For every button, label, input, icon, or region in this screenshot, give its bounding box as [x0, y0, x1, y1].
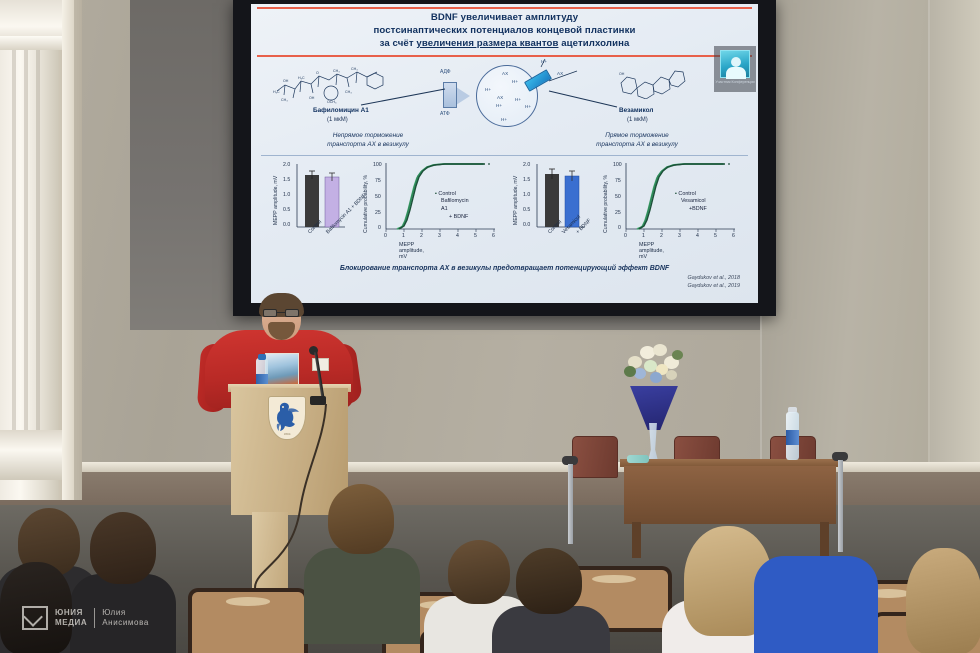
svg-text:OH: OH [283, 79, 289, 83]
chart-left-cum-legend: ▪ Control Bafilomycin A1 + BDNF [435, 191, 469, 222]
legend-item-0: ▪ Control [675, 191, 707, 199]
svg-text:H₃C: H₃C [273, 90, 280, 94]
caption-right-line-2: транспорта АХ в везикулу [596, 141, 678, 148]
glasses-left-lens [263, 309, 277, 317]
svg-text:OCH₃: OCH₃ [327, 100, 337, 104]
xtick: 1 [642, 233, 645, 239]
ytick: 0 [618, 225, 621, 231]
ytick: 2.0 [523, 162, 530, 168]
audience-shoulders [304, 548, 420, 644]
svg-text:CH₃: CH₃ [333, 69, 340, 73]
photo-watermark: ЮНИЯ МЕДИА Юлия Анисимова [22, 606, 149, 630]
svg-text:OH: OH [619, 72, 625, 76]
watermark-divider [94, 608, 95, 628]
audience-shoulders [754, 556, 878, 653]
pilaster-capital-band [0, 36, 64, 50]
presidium-chair-left[interactable] [572, 436, 618, 478]
caption-left-line-2: транспорта АХ в везикулу [327, 141, 409, 148]
wall-far-right [930, 0, 980, 480]
xtick: 5 [474, 233, 477, 239]
svg-text:CH₃: CH₃ [351, 67, 358, 71]
svg-text:CH₃: CH₃ [345, 90, 352, 94]
audience-hair [448, 540, 510, 604]
ytick: 50 [375, 194, 381, 200]
xtick: 1 [402, 233, 405, 239]
citation-1: Gaydukov et al., 2019 [257, 282, 740, 290]
legend-item-2: +BDNF [675, 206, 707, 214]
caption-left-line-1: Непрямое торможение [333, 132, 404, 139]
xtick: 6 [732, 233, 735, 239]
ytick: 1.5 [283, 177, 290, 183]
ion-h-1: H+ [485, 87, 491, 92]
legend-label-0: Control [678, 191, 695, 197]
legend-label-1: Vesamicol [681, 198, 706, 204]
projection-screen-surface: BDNF увеличивает амплитуду постсинаптиче… [251, 4, 758, 303]
ytick: 100 [373, 162, 382, 168]
face-mask-on-table [627, 455, 649, 463]
pilaster-flute [24, 50, 28, 430]
watermark-brand: ЮНИЯ МЕДИА [55, 608, 87, 628]
pump-label-adp: АДФ [440, 69, 451, 75]
chart-right-cum-ylabel: Cumulative probability, % [603, 161, 609, 233]
conference-photo-scene: BDNF увеличивает амплитуду постсинаптиче… [0, 0, 980, 653]
ion-h-2: H+ [496, 103, 502, 108]
chart-left-bar-ylabel: MEPP amplitude, mV [273, 165, 279, 225]
slide-title-block: BDNF увеличивает амплитуду постсинаптиче… [257, 7, 752, 57]
svg-text:H₃C: H₃C [298, 76, 305, 80]
audience-hair [516, 548, 582, 614]
ion-h-6: H+ [525, 104, 531, 109]
ytick: 100 [613, 162, 622, 168]
watermark-photographer-line-2: Анисимова [102, 618, 149, 628]
presidium-table-front [624, 466, 836, 524]
legend-item-1: Vesamicol [675, 198, 707, 206]
drug-left-dose: (1 мкМ) [327, 117, 348, 123]
flower-foliage [624, 366, 636, 377]
presidium-table-leg-right [820, 522, 829, 558]
legend-item-1: Bafilomycin A1 [435, 198, 469, 214]
xtick: 0 [624, 233, 627, 239]
ion-h-3: H+ [512, 79, 518, 84]
v-atpase-pump-icon [443, 82, 457, 108]
slide-title-line-3: за счёт увеличения размера квантов ацети… [261, 38, 748, 51]
legend-label-2: + BDNF [449, 214, 468, 220]
slide-title-line-3-post: ацетилхолина [558, 38, 629, 49]
flower-foliage [672, 350, 683, 360]
slide-divider [261, 155, 748, 156]
watermark-photographer-line-1: Юлия [102, 608, 149, 618]
ytick: 75 [615, 178, 621, 184]
watermark-logo-icon [22, 606, 48, 630]
xtick: 5 [714, 233, 717, 239]
legend-label-0: Control [438, 191, 455, 197]
presidium-table-leg-left [632, 522, 641, 558]
ach-inside-1: АХ [502, 71, 508, 76]
wall-seam-2 [928, 0, 930, 480]
legend-label-1: Bafilomycin A1 [441, 198, 469, 212]
pilaster-flute [36, 50, 40, 430]
speaker-glasses-icon [263, 309, 300, 317]
ytick: 1.0 [283, 192, 290, 198]
legend-label-2: +BDNF [689, 206, 707, 212]
chart-right-cum-legend: ▪ Control Vesamicol +BDNF [675, 191, 707, 214]
slide-title-emphasis: увеличения размера квантов [416, 38, 558, 49]
glasses-bridge [277, 312, 285, 313]
pump-label-atp: АТФ [440, 111, 450, 117]
xtick: 3 [678, 233, 681, 239]
ytick: 1.0 [523, 192, 530, 198]
watermark-brand-line-2: МЕДИА [55, 618, 87, 628]
ytick: 25 [615, 210, 621, 216]
slide-conclusion: Блокирование транспорта АХ в везикулы пр… [257, 265, 752, 272]
svg-text:O: O [316, 71, 319, 75]
ach-inside-2: АХ [497, 95, 503, 100]
chart-left-cum-ylabel: Cumulative probability, % [363, 161, 369, 233]
ion-h-5: H+ [501, 117, 507, 122]
legend-item-2: + BDNF [435, 214, 469, 222]
pilaster-flute [12, 50, 16, 430]
webcam-pip-window[interactable]: Участник Конференции [714, 46, 756, 92]
xtick: 0 [384, 233, 387, 239]
mic-stand-2-pole [838, 460, 843, 552]
ion-h-4: H+ [515, 97, 521, 102]
legend-item-0: ▪ Control [435, 191, 469, 199]
vesamicol-structure-icon: OH [615, 63, 687, 99]
xtick: 2 [420, 233, 423, 239]
drug-right-dose: (1 мкМ) [627, 117, 648, 123]
audience-hair [906, 548, 980, 653]
presentation-slide: BDNF увеличивает амплитуду постсинаптиче… [251, 4, 758, 303]
webcam-video-feed [720, 50, 750, 78]
webcam-avatar-head-icon [731, 57, 741, 67]
slide-citations: Gaydukov et al., 2018 Gaydukov et al., 2… [257, 274, 752, 290]
door-trim [62, 0, 74, 500]
xtick: 4 [456, 233, 459, 239]
slide-charts-row: MEPP amplitude, mV 2.0 1.5 1.0 0.5 0.0 [257, 159, 752, 263]
speaker-water-bottle-cap[interactable] [258, 354, 266, 360]
slide-title-line-3-pre: за счёт [380, 38, 417, 49]
flower-petal [653, 344, 667, 356]
ytick: 0.0 [283, 222, 290, 228]
ytick: 25 [375, 210, 381, 216]
ytick: 75 [375, 178, 381, 184]
ion-h-apex: H+ [541, 59, 547, 64]
ytick: 0.5 [283, 207, 290, 213]
xtick: 4 [696, 233, 699, 239]
ytick: 0.5 [523, 207, 530, 213]
bafilomycin-structure-icon: H₃COH H₃CO CH₃CH₃ CH₃OH OCH₃CH₃ [271, 63, 391, 109]
slide-title-line-1: BDNF увеличивает амплитуду [261, 12, 748, 25]
audience-hair [90, 512, 156, 584]
watermark-photographer: Юлия Анисимова [102, 608, 149, 628]
drug-right-name: Везамикол [619, 107, 653, 114]
flower-petal [650, 372, 662, 383]
ytick: 2.0 [283, 162, 290, 168]
ytick: 1.5 [523, 177, 530, 183]
chart-right-cum-xlabel: MEPP amplitude, mV [639, 242, 664, 260]
drug-left-name: Бафиломицин А1 [313, 107, 369, 114]
pilaster-base [0, 430, 68, 480]
slide-title-line-2: постсинаптических потенциалов концевой п… [261, 25, 748, 38]
glasses-right-lens [285, 309, 299, 317]
proton-pump-arrow [456, 87, 470, 105]
flower-petal [644, 360, 657, 372]
webcam-avatar-body-icon [726, 67, 746, 79]
svg-text:CH₃: CH₃ [281, 98, 288, 102]
caption-left: Непрямое торможение транспорта АХ в вези… [293, 131, 443, 150]
watermark-brand-line-1: ЮНИЯ [55, 608, 87, 618]
xtick: 6 [492, 233, 495, 239]
slide-diagram: H₃COH H₃CO CH₃CH₃ CH₃OH OCH₃CH₃ АДФ [257, 57, 752, 153]
xtick: 2 [660, 233, 663, 239]
citation-0: Gaydukov et al., 2018 [257, 274, 740, 282]
chart-right-bar-ylabel: MEPP amplitude, mV [513, 165, 519, 225]
ytick: 50 [615, 194, 621, 200]
vacht-transporter-icon [524, 69, 552, 92]
ytick: 0 [378, 225, 381, 231]
flower-petal [666, 370, 677, 380]
chart-left-cum-xlabel: MEPP amplitude, mV [399, 242, 424, 260]
ach-outside: АХ [557, 71, 563, 76]
webcam-participant-name: Участник Конференции [714, 80, 756, 84]
mic-stand-3-pole [568, 464, 573, 544]
caption-right-line-1: Прямое торможение [605, 132, 668, 139]
classical-pilaster [0, 0, 58, 500]
table-water-bottle-label [786, 430, 799, 445]
audience-hair [328, 484, 394, 554]
svg-text:OH: OH [309, 96, 315, 100]
audience-chair[interactable] [188, 588, 308, 653]
projection-screen-frame: BDNF увеличивает амплитуду постсинаптиче… [233, 0, 776, 316]
ytick: 0.0 [523, 222, 530, 228]
xtick: 3 [438, 233, 441, 239]
caption-right: Прямое торможение транспорта АХ в везику… [557, 131, 717, 150]
